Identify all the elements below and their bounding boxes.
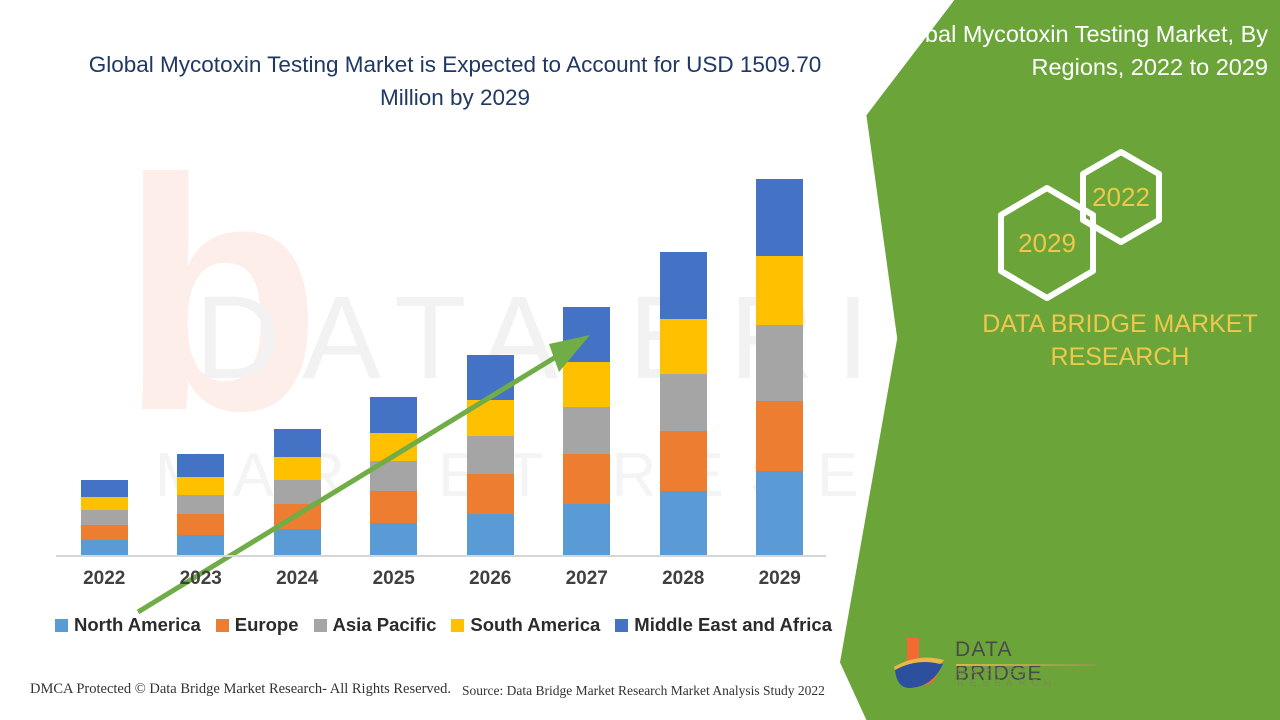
x-axis-label-2023: 2023 (153, 568, 249, 590)
x-axis-label-2029: 2029 (732, 568, 828, 590)
legend-item-north-america[interactable]: North America (55, 614, 201, 636)
x-axis-label-2027: 2027 (539, 568, 635, 590)
page-title: Global Mycotoxin Testing Market is Expec… (60, 48, 850, 114)
stacked-bar (467, 355, 514, 556)
bar-segment-south-america (370, 433, 417, 461)
legend-swatch-icon (451, 619, 464, 632)
bar-column-2022 (56, 176, 152, 556)
bar-segment-middle-east-and-africa (81, 480, 128, 497)
bar-column-2028 (635, 176, 731, 556)
bar-segment-europe (563, 454, 610, 504)
bar-segment-asia-pacific (370, 461, 417, 491)
x-axis-line (56, 555, 826, 557)
bar-column-2023 (153, 176, 249, 556)
bar-segment-europe (274, 504, 321, 530)
bar-segment-asia-pacific (660, 374, 707, 431)
bar-segment-asia-pacific (756, 325, 803, 400)
x-axis-label-2028: 2028 (635, 568, 731, 590)
footer-source: Source: Data Bridge Market Research Mark… (462, 683, 825, 699)
bar-segment-middle-east-and-africa (370, 397, 417, 433)
bar-segment-south-america (563, 362, 610, 407)
stacked-bar (563, 307, 610, 556)
chart-legend: North AmericaEuropeAsia PacificSouth Ame… (56, 614, 831, 636)
legend-label: Middle East and Africa (634, 614, 832, 636)
brand-name-text: DATA BRIDGE MARKET RESEARCH (960, 308, 1280, 374)
bar-segment-asia-pacific (274, 480, 321, 504)
legend-label: Europe (235, 614, 299, 636)
infographic-root: b DATA BRIDGE MARKET RESEARCH Global Myc… (0, 0, 1280, 720)
bar-segment-south-america (274, 457, 321, 480)
chart-plot-area (56, 150, 828, 556)
x-axis-label-2025: 2025 (346, 568, 442, 590)
legend-item-asia-pacific[interactable]: Asia Pacific (314, 614, 437, 636)
panel-title: Global Mycotoxin Testing Market, By Regi… (880, 18, 1268, 84)
bar-segment-north-america (370, 523, 417, 556)
hexagon-badge-2029-label: 2029 (1018, 228, 1076, 259)
legend-item-south-america[interactable]: South America (451, 614, 600, 636)
bar-segment-middle-east-and-africa (177, 454, 224, 477)
bar-segment-north-america (467, 514, 514, 556)
x-axis-labels: 20222023202420252026202720282029 (56, 568, 828, 590)
dbmr-logo: DATA BRIDGE MARKET RESEARCH (893, 634, 1103, 696)
bar-segment-europe (370, 491, 417, 523)
x-axis-label-2026: 2026 (442, 568, 538, 590)
x-axis-label-2024: 2024 (249, 568, 345, 590)
stacked-bar (756, 179, 803, 556)
bar-segment-europe (177, 514, 224, 535)
bar-segment-south-america (177, 477, 224, 495)
legend-label: Asia Pacific (333, 614, 437, 636)
x-axis-label-2022: 2022 (56, 568, 152, 590)
bar-segment-south-america (756, 256, 803, 325)
bar-segment-south-america (81, 497, 128, 511)
stacked-bar (370, 397, 417, 556)
bar-segment-asia-pacific (467, 436, 514, 474)
legend-item-middle-east-and-africa[interactable]: Middle East and Africa (615, 614, 832, 636)
dbmr-logo-subtitle: MARKET RESEARCH (957, 667, 1103, 689)
stacked-bars (56, 176, 828, 556)
stacked-bar (81, 480, 128, 556)
hexagon-badges: 2022 2029 (985, 148, 1185, 288)
hexagon-badge-2029: 2029 (993, 183, 1101, 303)
bar-column-2029 (732, 176, 828, 556)
bar-segment-europe (660, 431, 707, 492)
bar-segment-north-america (81, 540, 128, 556)
bar-column-2025 (346, 176, 442, 556)
bar-segment-middle-east-and-africa (274, 429, 321, 458)
bar-segment-europe (756, 401, 803, 471)
bar-segment-middle-east-and-africa (467, 355, 514, 400)
legend-swatch-icon (615, 619, 628, 632)
bar-segment-middle-east-and-africa (756, 179, 803, 257)
stacked-bar (177, 454, 224, 556)
footer-copyright: DMCA Protected © Data Bridge Market Rese… (30, 681, 451, 698)
stacked-bar (660, 252, 707, 556)
bar-segment-north-america (274, 529, 321, 556)
legend-swatch-icon (216, 619, 229, 632)
bar-segment-south-america (660, 319, 707, 374)
bar-column-2024 (249, 176, 345, 556)
legend-swatch-icon (55, 619, 68, 632)
legend-item-europe[interactable]: Europe (216, 614, 299, 636)
dbmr-logo-mark-icon (893, 634, 951, 692)
dbmr-logo-divider (956, 664, 1096, 666)
stacked-bar (274, 429, 321, 556)
bar-segment-north-america (177, 535, 224, 556)
legend-label: South America (470, 614, 600, 636)
bar-segment-north-america (660, 491, 707, 556)
bar-segment-europe (81, 525, 128, 540)
bar-segment-north-america (563, 504, 610, 556)
bar-segment-middle-east-and-africa (660, 252, 707, 319)
bar-column-2026 (442, 176, 538, 556)
bar-segment-middle-east-and-africa (563, 307, 610, 362)
legend-label: North America (74, 614, 201, 636)
legend-swatch-icon (314, 619, 327, 632)
bar-segment-south-america (467, 400, 514, 436)
bar-segment-europe (467, 474, 514, 514)
bar-segment-asia-pacific (177, 495, 224, 514)
bar-segment-north-america (756, 471, 803, 557)
bar-segment-asia-pacific (563, 407, 610, 454)
hexagon-badge-2022-label: 2022 (1092, 182, 1150, 213)
bar-segment-asia-pacific (81, 510, 128, 524)
bar-column-2027 (539, 176, 635, 556)
